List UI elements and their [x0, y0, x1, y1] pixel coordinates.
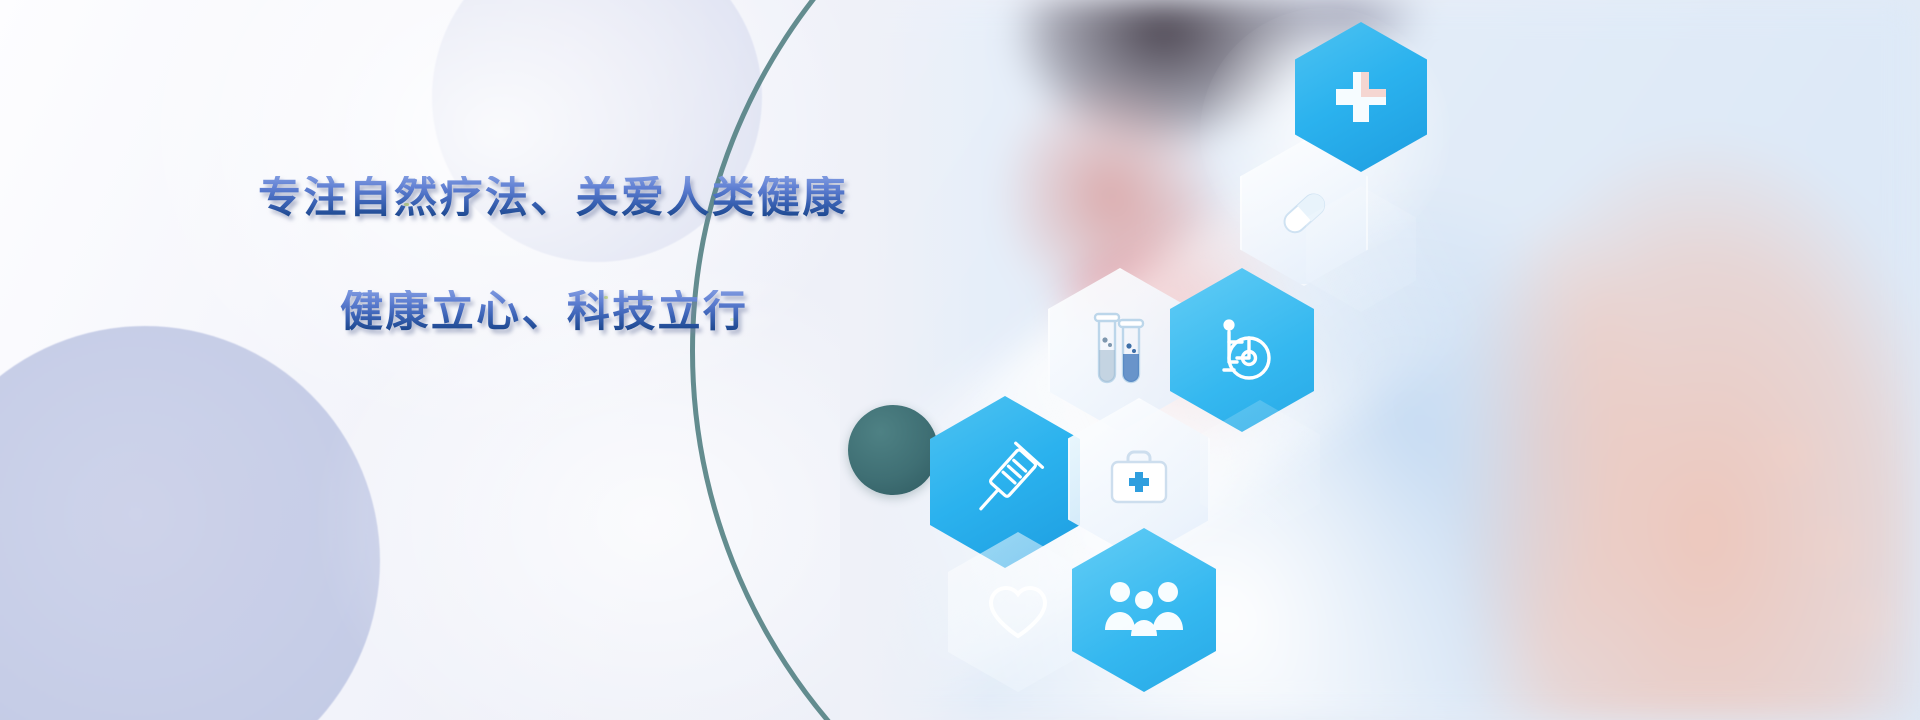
hexagon-family — [1072, 528, 1216, 692]
headline-block: 专注自然疗法、关爱人类健康 健康立心、科技立行 — [258, 176, 898, 335]
test-tubes-icon — [1083, 310, 1157, 390]
hexagon-heart — [948, 532, 1088, 692]
headline-line-2: 健康立心、科技立行 — [340, 290, 898, 336]
family-group-icon — [1103, 578, 1185, 642]
hexagon-wheelchair — [1170, 268, 1314, 432]
medical-cross-icon — [1330, 66, 1392, 128]
wheelchair-icon — [1204, 312, 1280, 388]
heart-icon — [985, 582, 1051, 642]
hexagon-decorative — [1200, 400, 1320, 538]
hexagon-icon-cluster — [900, 0, 1520, 720]
headline-line-1: 专注自然疗法、关爱人类健康 — [258, 176, 898, 222]
decorative-circle-bottom — [0, 326, 380, 720]
medical-bag-icon — [1104, 444, 1174, 514]
syringe-icon — [963, 440, 1047, 524]
hero-banner: 专注自然疗法、关爱人类健康 健康立心、科技立行 — [0, 0, 1920, 720]
